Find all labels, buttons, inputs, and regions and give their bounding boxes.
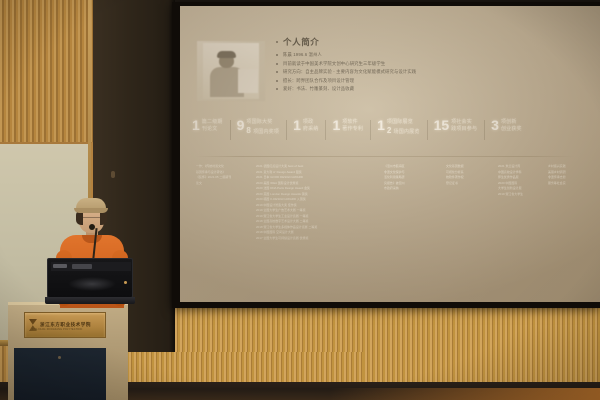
intro-bullet-text: 研究方向：自主品牌实验 - 主要内容为文化赋能模式研究与设计实践 [283, 69, 416, 75]
stats-divider [196, 156, 574, 157]
lecture-hall-scene: 个人简介 陈晨 1996.6 温州人 目前就读于中国美术学院文创中心研究生三年级… [0, 0, 600, 400]
stat-label-line1: 项国际展览 [387, 119, 413, 125]
stat-item: 1 篇二级期 刊论文 [192, 118, 229, 137]
stat-label-line1: 项创新 [501, 119, 517, 125]
podium-plaque-text: 浙江东方职业技术学院 [40, 322, 91, 328]
stat-label-line2: 著作专利 [342, 126, 363, 132]
stat-sub-label: 场国内展览 [394, 129, 420, 136]
presenter-hair-right [100, 211, 107, 225]
fineprint-column: 2021 德国红点设计大奖 best of best 2021 意大利 A' D… [256, 164, 384, 241]
stat-item: 3 项创新 创业获奖 [483, 118, 528, 137]
fineprint-line: 市政府采纳 [384, 186, 436, 192]
stat-item: 1 项政 府采纳 [285, 118, 324, 137]
photo-person-cap [217, 51, 236, 58]
laptop-brand-logo-icon [53, 264, 67, 268]
bullet-dot-icon [276, 63, 278, 65]
laptop-screen-content [68, 277, 116, 291]
stat-label: 项政 府采纳 [303, 118, 319, 134]
intro-bullet: 研究方向：自主品牌实验 - 主要内容为文化赋能模式研究与设计实践 [276, 69, 451, 75]
stat-item: 1 项国际展览 2 场国内展览 [369, 118, 425, 137]
stat-sub-number: 8 [246, 127, 251, 135]
stat-item: 9 项国际大奖 8 项国内奖项 [229, 118, 285, 137]
intro-bullet-text: 目前就读于中国美术学院文创中心研究生三年级学生 [283, 61, 385, 67]
lower-slat-wall [94, 352, 364, 386]
intro-bullet-text: 陈晨 1996.6 温州人 [283, 52, 322, 58]
intro-block: 个人简介 陈晨 1996.6 温州人 目前就读于中国美术学院文创中心研究生三年级… [276, 36, 451, 95]
stat-number: 3 [491, 118, 499, 132]
stat-label-line2: 府采纳 [303, 126, 319, 132]
stat-number: 1 [293, 118, 301, 132]
projection-screen: 个人简介 陈晨 1996.6 温州人 目前就读于中国美术学院文创中心研究生三年级… [180, 6, 600, 302]
presenter-cap-brim [74, 208, 108, 213]
stats-row: 1 篇二级期 刊论文 9 项国际大奖 8 项国内奖项 [192, 118, 592, 137]
bullet-dot-icon [276, 54, 278, 56]
stat-item: 15 项社会实 践项目参与 [426, 118, 484, 137]
stat-label-line1: 项国际大奖 [246, 119, 272, 125]
fineprint-column: 一作：《传统村落文化 基因传承与设计转化》 《装饰》2021.05 二级期刊 论… [196, 164, 256, 241]
intro-title: 个人简介 [283, 36, 319, 48]
stat-sub-number: 2 [387, 127, 392, 135]
stat-label-line2: 创业获奖 [501, 126, 522, 132]
microphone-head [89, 224, 95, 230]
fineprint-column: 《温州市瓯海区 非遗文化保护与 活化利用策略研 究报告》被温州 市政府采纳 [384, 164, 446, 241]
stat-sub-label: 项国内奖项 [253, 129, 279, 136]
laptop-screen[interactable] [47, 258, 133, 298]
intro-bullet-text: 擅长：跨界团队合作及项目设计管理 [283, 78, 354, 84]
stat-label: 项国际展览 2 场国内展览 [387, 118, 420, 137]
podium-fixture [58, 356, 61, 359]
stat-label: 项创新 创业获奖 [501, 118, 522, 134]
stat-label: 项软件 著作专利 [342, 118, 363, 134]
stat-number: 9 [237, 118, 245, 132]
fineprint-line: 论文 [196, 181, 246, 187]
presenter-glasses [82, 217, 101, 221]
stat-label-line2: 刊论文 [202, 126, 218, 132]
fineprint-column: 文化基因数据 可视化分析系 统软件著作权 登记证书 [446, 164, 498, 241]
stat-label: 篇二级期 刊论文 [202, 118, 223, 134]
presentation-slide: 个人简介 陈晨 1996.6 温州人 目前就读于中国美术学院文创中心研究生三年级… [180, 6, 600, 302]
stat-label-line1: 项政 [303, 119, 313, 125]
intro-title-row: 个人简介 [276, 36, 451, 48]
fineprint-columns: 一作：《传统村落文化 基因传承与设计转化》 《装饰》2021.05 二级期刊 论… [196, 164, 588, 241]
laptop[interactable] [47, 258, 133, 304]
portrait-photo [197, 41, 265, 101]
intro-bullet: 陈晨 1996.6 温州人 [276, 52, 451, 58]
stat-number: 1 [332, 118, 340, 132]
fineprint-line: 服务等社会实 [548, 181, 578, 187]
laptop-indicator-led [124, 281, 127, 284]
stat-label-line2: 践项目参与 [451, 126, 477, 132]
stat-number: 1 [377, 118, 385, 132]
stat-label-line1: 项软件 [342, 119, 358, 125]
fineprint-column: 2021 米兰设计周 中国高校设计学科 师生优秀作品展 2020 中国国际 大学… [498, 164, 548, 241]
photo-monitor [238, 69, 258, 93]
stat-label: 项国际大奖 8 项国内奖项 [246, 118, 279, 137]
fineprint-column: 乡村振兴实践 美丽乡村调研 非遗传承志愿 服务等社会实 [548, 164, 588, 241]
stat-label-line1: 项社会实 [451, 119, 472, 125]
stat-label: 项社会实 践项目参与 [451, 118, 477, 134]
bullet-dot-icon [276, 41, 278, 43]
stat-item: 1 项软件 著作专利 [324, 118, 369, 137]
bullet-dot-icon [276, 71, 278, 73]
stat-sub-row: 8 项国内奖项 [246, 127, 279, 136]
intro-bullet-text: 爱好：书法、竹雕篆刻、设计品收藏 [283, 86, 354, 92]
stat-number: 15 [434, 118, 450, 132]
laptop-base [45, 297, 135, 304]
fineprint-line: 登记证书 [446, 181, 488, 187]
bullet-dot-icon [276, 88, 278, 90]
laptop-active-tab[interactable] [72, 264, 92, 269]
fineprint-line: 2019 浙江省大学生 [498, 192, 538, 198]
door-handle [111, 171, 115, 178]
stat-label-line1: 篇二级期 [202, 119, 223, 125]
podium-plaque: 浙江东方职业技术学院 [24, 312, 106, 338]
floor-light-reflection [330, 388, 600, 400]
fineprint-line: 2017 全国大学生可持续设计竞赛 优秀奖 [256, 236, 374, 242]
bullet-dot-icon [276, 80, 278, 82]
intro-bullet: 擅长：跨界团队合作及项目设计管理 [276, 78, 451, 84]
stat-number: 1 [192, 118, 200, 132]
intro-bullet: 目前就读于中国美术学院文创中心研究生三年级学生 [276, 61, 451, 67]
intro-bullet: 爱好：书法、竹雕篆刻、设计品收藏 [276, 86, 451, 92]
stat-sub-row: 2 场国内展览 [387, 127, 420, 136]
podium-plaque-subtext: ZHEJIANG DONGFANG POLYTECHNIC [32, 329, 83, 331]
